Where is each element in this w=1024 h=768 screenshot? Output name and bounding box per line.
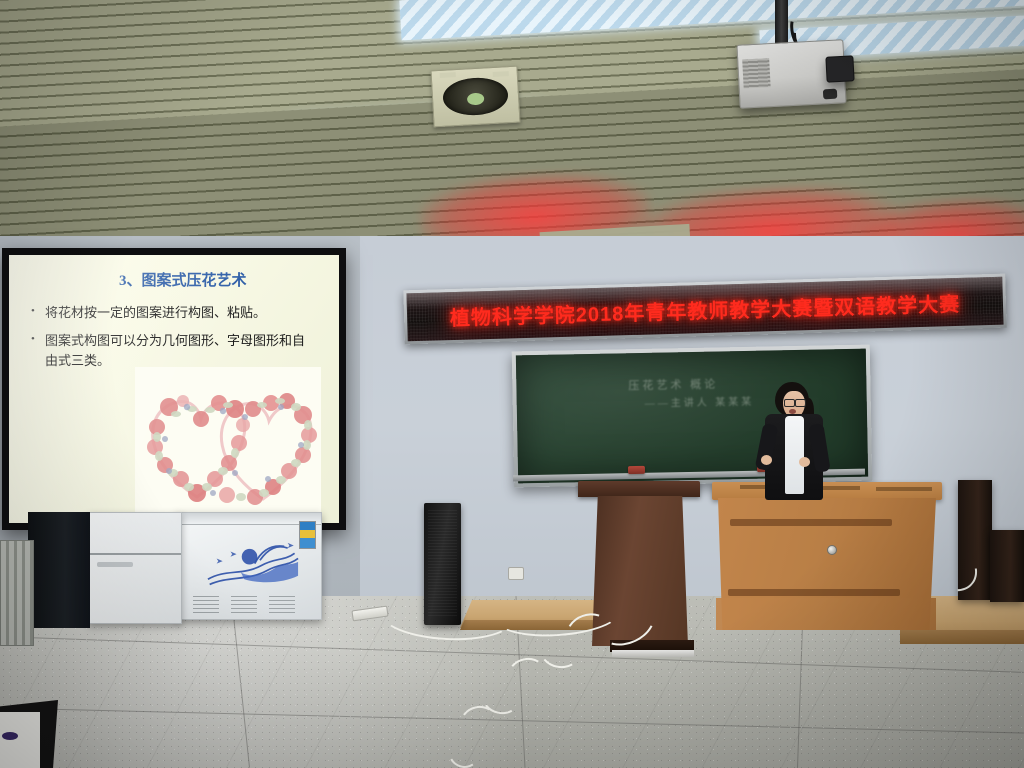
- desk-upper-stripe: [730, 519, 892, 526]
- vent-tab-left: [440, 72, 456, 78]
- freezer-vent-3: [269, 596, 295, 613]
- ceiling-exhaust-vent: [430, 66, 520, 128]
- flower-heart-svg: [135, 367, 321, 513]
- gap-behind-appliances: [28, 512, 90, 628]
- freezer-vent-grilles: [193, 596, 295, 613]
- presenter-glasses-right: [795, 399, 806, 407]
- presenter-blouse: [785, 416, 804, 494]
- wall-radiator: [0, 540, 34, 646]
- chalkboard-text-line-2: ——主讲人 某某某: [645, 393, 755, 410]
- classroom-photo: 植物科学学院2018年青年教师教学大赛暨双语教学大赛 压花艺术 概论 ——主讲人…: [0, 0, 1024, 768]
- freezer-vent-2: [231, 596, 257, 613]
- vent-tab-right: [493, 71, 509, 77]
- chalkboard-eraser-1: [628, 466, 645, 474]
- slide-title: 3、图案式压花艺术: [119, 269, 247, 290]
- pressed-leaves: [153, 398, 312, 501]
- freezer-wave-graphic: [201, 537, 305, 599]
- pressed-flowers: [147, 393, 317, 505]
- refrigerator-door-split: [89, 553, 181, 555]
- desk-lower-stripe: [728, 589, 900, 596]
- chest-freezer: [176, 512, 322, 620]
- lectern-top: [578, 481, 700, 497]
- chalkboard-text-line-1: 压花艺术 概论: [628, 375, 718, 393]
- stage-platform-right-edge: [900, 630, 1024, 644]
- projection-screen-surface: 3、图案式压花艺术 将花材按一定的图案进行构图、粘贴。 图案式构图可以分为几何图…: [9, 255, 339, 523]
- projector-vents: [742, 58, 771, 89]
- lectern-plinth: [612, 650, 694, 657]
- ceiling: [0, 0, 1024, 262]
- foreground-paper: [0, 712, 40, 768]
- slide-flower-heart-image: [135, 367, 321, 513]
- right-cabinet-low: [990, 530, 1024, 602]
- projection-screen: 3、图案式压花艺术 将花材按一定的图案进行构图、粘贴。 图案式构图可以分为几何图…: [2, 248, 346, 530]
- foreground-paper-mark: [2, 732, 18, 740]
- refrigerator: [88, 512, 182, 624]
- projector-lens: [822, 89, 837, 100]
- refrigerator-handle: [97, 562, 133, 567]
- desk-equipment-slot-3: [876, 487, 932, 491]
- presenter-left-hand: [761, 455, 772, 465]
- presenter-right-hand: [799, 457, 810, 467]
- projector-mount-pole: [775, 0, 788, 48]
- freezer-vent-1: [193, 596, 219, 613]
- projector-connector-block: [825, 55, 854, 82]
- desk-lock: [827, 545, 837, 555]
- wall-outlet: [508, 567, 524, 580]
- slide-bullet-1: 将花材按一定的图案进行构图、粘贴。: [45, 303, 315, 323]
- small-blue-flowers: [162, 404, 304, 496]
- desk-base-strip: [716, 598, 936, 630]
- foreground-desk-corner: [0, 700, 58, 768]
- slide-bullet-2: 图案式构图可以分为几何图形、字母图形和自由式三类。: [45, 331, 317, 371]
- presenter-glasses: [784, 399, 795, 407]
- floor-seam-3: [231, 596, 250, 767]
